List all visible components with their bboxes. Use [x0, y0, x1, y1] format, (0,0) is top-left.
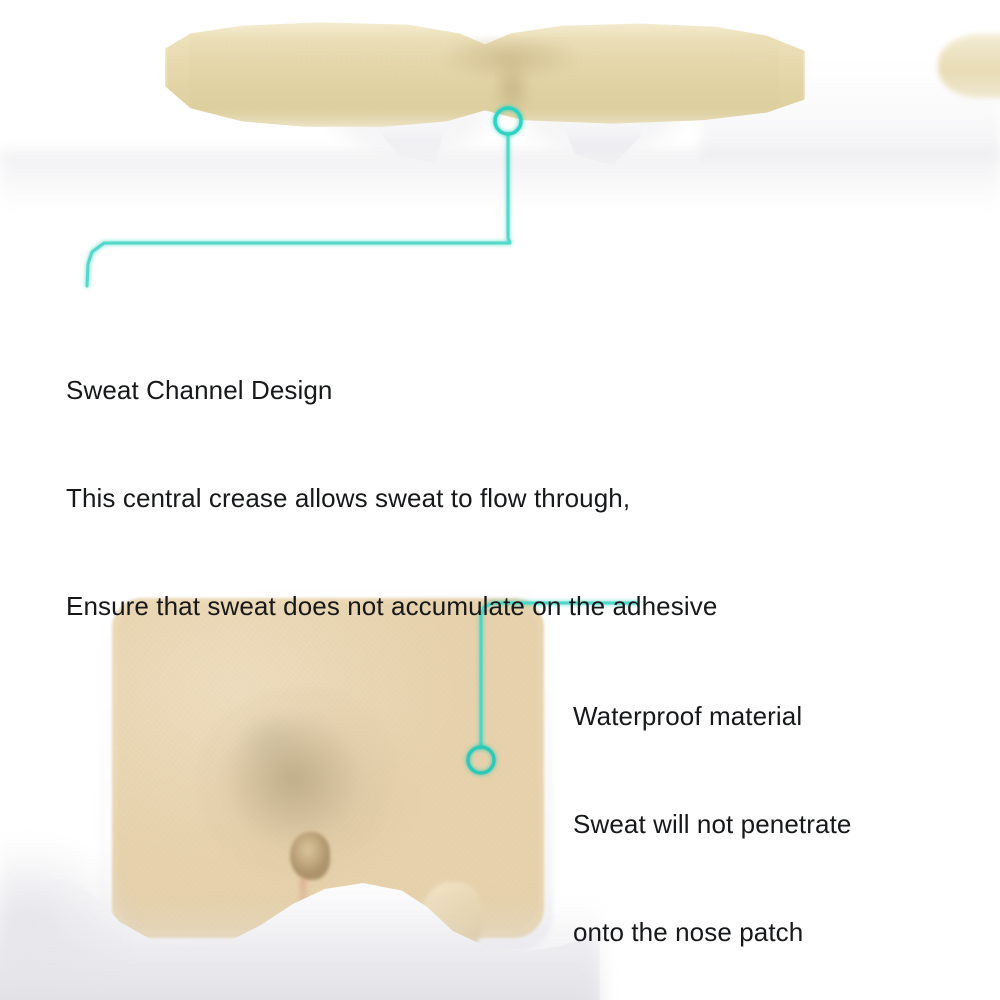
- caption-line: Sweat will not penetrate: [573, 806, 934, 842]
- caption-waterproof-material: Waterproof material Sweat will not penet…: [573, 626, 934, 1000]
- callout-ring-marker-sweat-channel: [495, 108, 521, 134]
- caption-line: This central crease allows sweat to flow…: [66, 480, 717, 516]
- callout-leader-line-sweat-channel: [87, 134, 510, 286]
- caption-heading: Sweat Channel Design: [66, 372, 717, 408]
- infographic-page: Sweat Channel Design This central crease…: [0, 0, 1000, 1000]
- callout-sweat-channel: [87, 108, 521, 286]
- caption-heading: Waterproof material: [573, 698, 934, 734]
- caption-line: Ensure that sweat does not accumulate on…: [66, 588, 717, 624]
- callout-ring-marker-waterproof: [468, 747, 494, 773]
- caption-line: onto the nose patch: [573, 914, 934, 950]
